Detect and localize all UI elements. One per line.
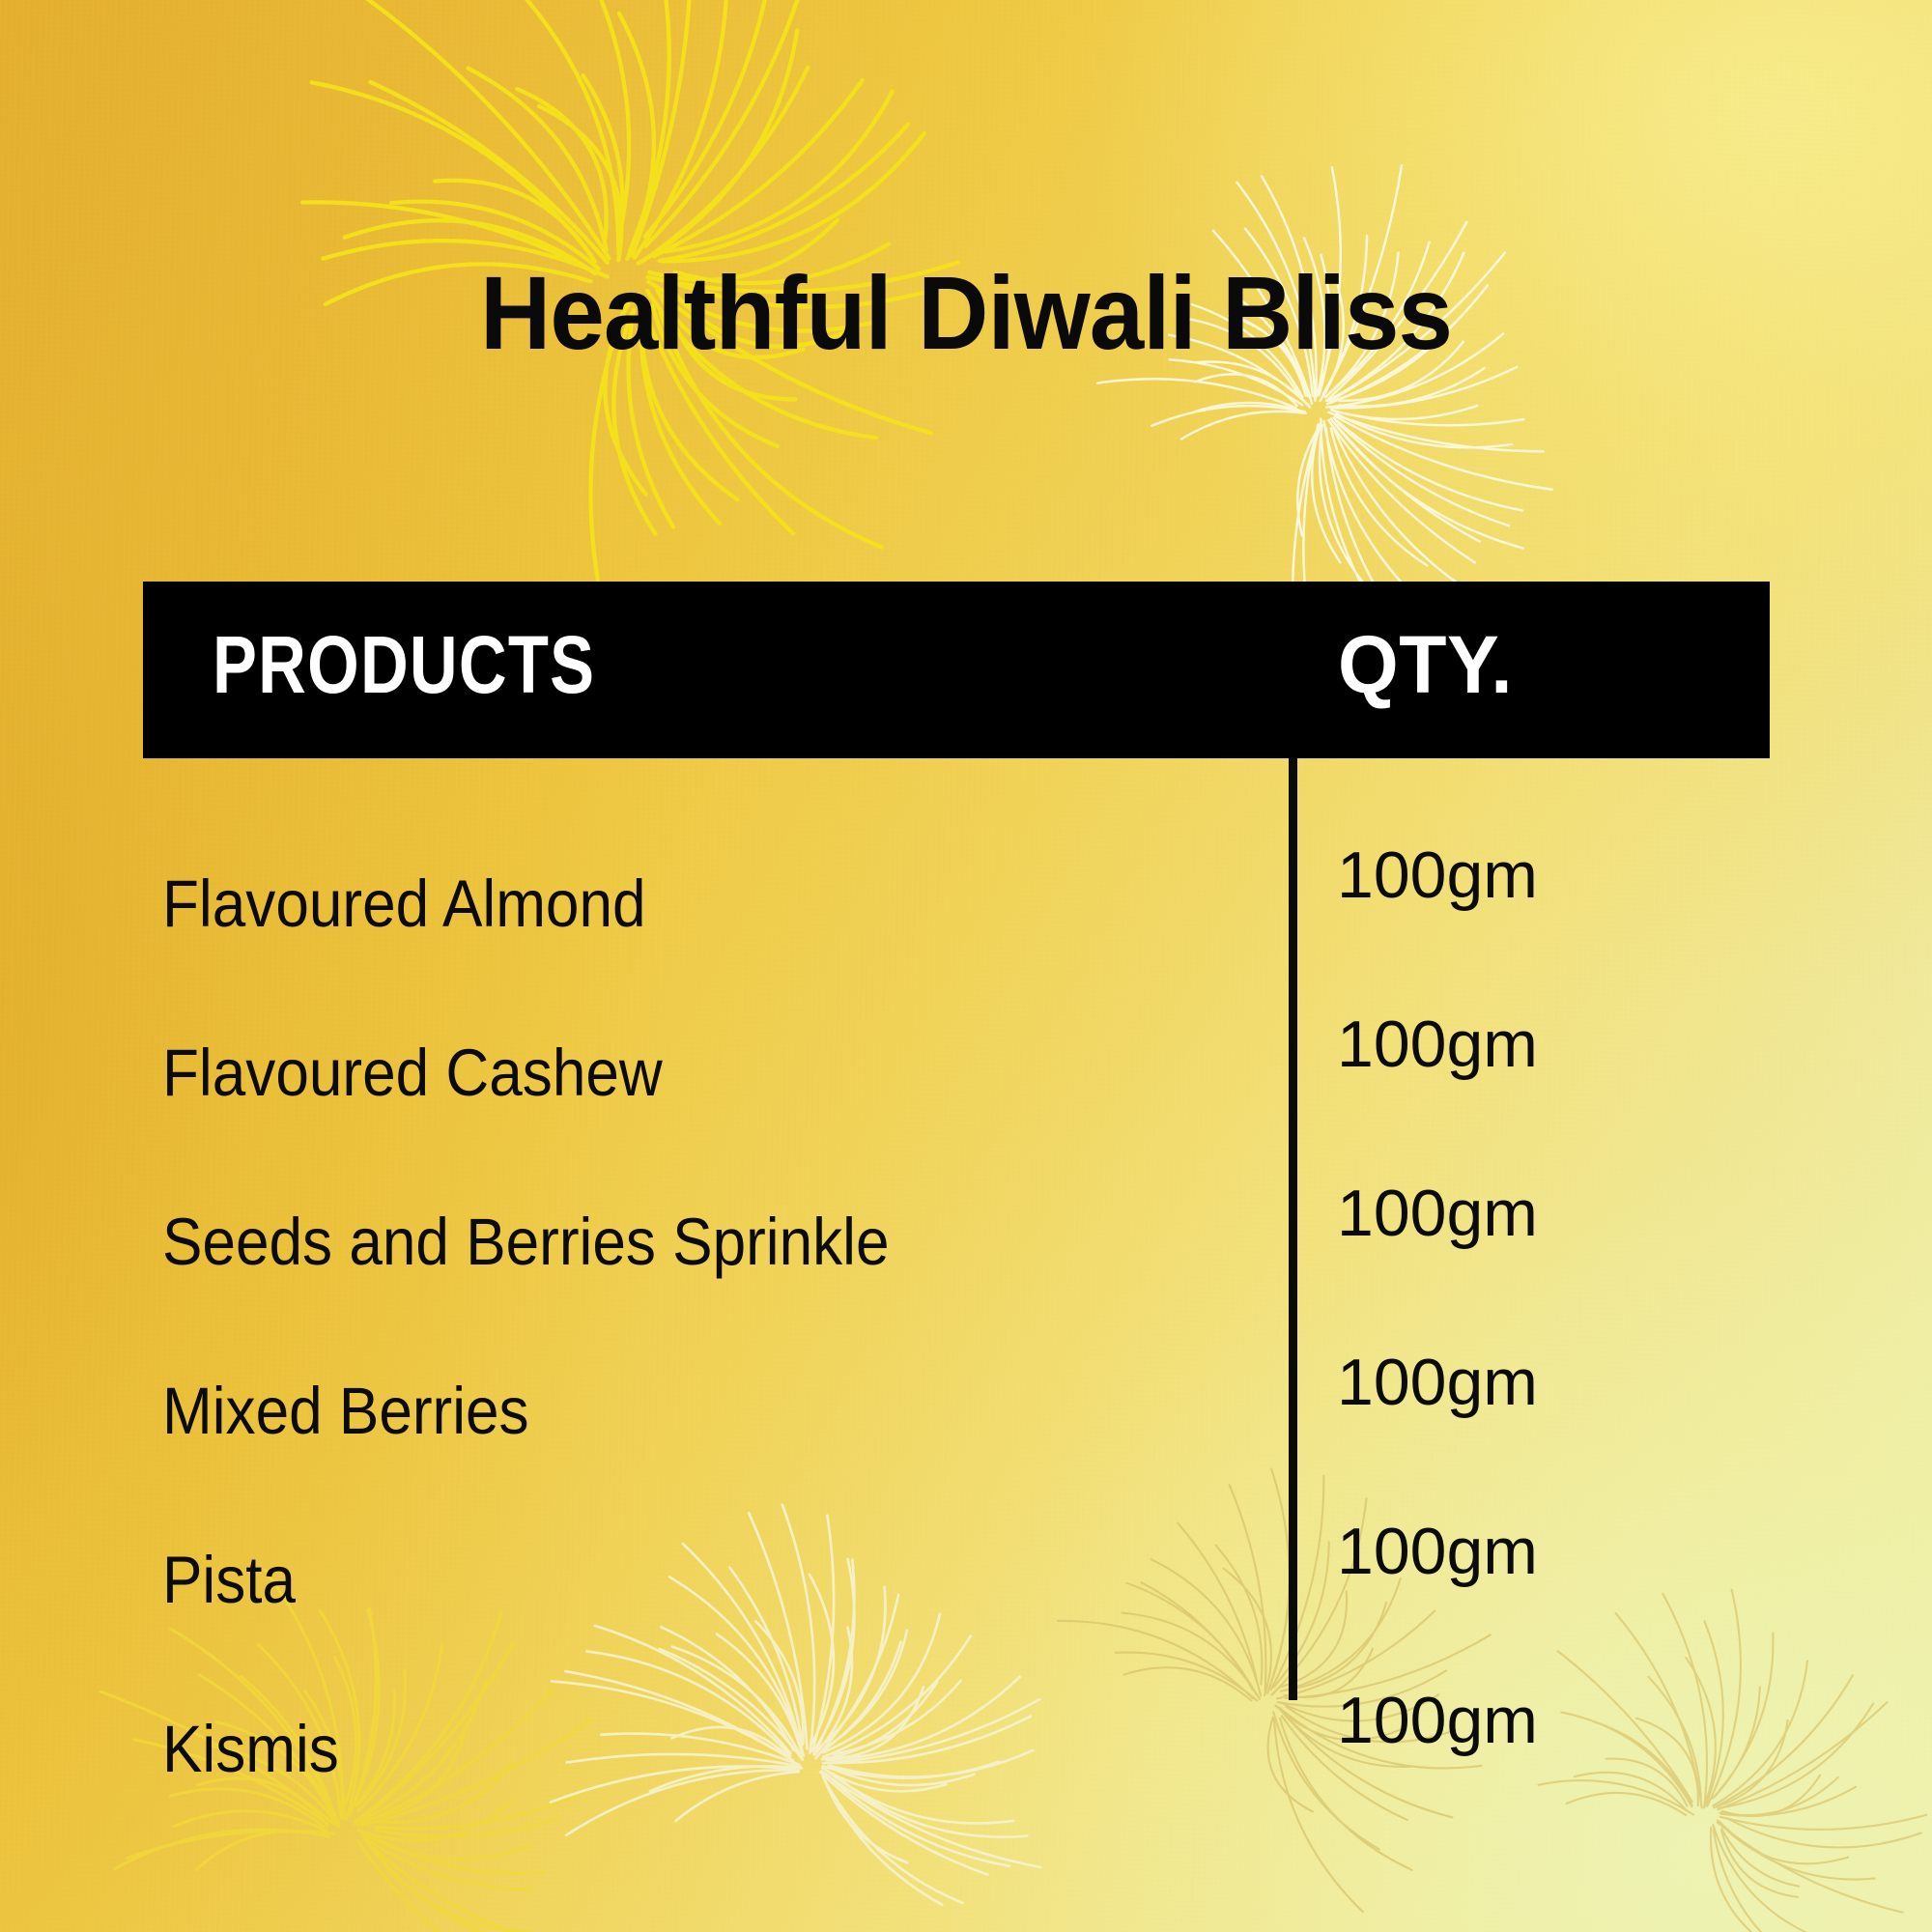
table-row-qty: 100gm — [1337, 1635, 1752, 1804]
table-row-qty: 100gm — [1337, 790, 1752, 959]
table-row: Seeds and Berries Sprinkle — [162, 1157, 1136, 1326]
table-row: Flavoured Cashew — [162, 988, 1136, 1157]
table-header-bar: PRODUCTS QTY. — [143, 582, 1770, 758]
table-row-qty: 100gm — [1337, 1297, 1752, 1466]
column-header-qty: QTY. — [1338, 624, 1513, 705]
product-name-column: Flavoured Almond Flavoured Cashew Seeds … — [162, 819, 1244, 1833]
table-row-qty: 100gm — [1337, 1466, 1752, 1635]
table-row: Kismis — [162, 1664, 1136, 1833]
table-row-qty: 100gm — [1337, 959, 1752, 1128]
column-divider — [1289, 758, 1297, 1700]
table-row: Pista — [162, 1495, 1136, 1664]
page-title: Healthful Diwali Bliss — [58, 261, 1874, 365]
table-row-qty: 100gm — [1337, 1128, 1752, 1297]
table-row: Flavoured Almond — [162, 819, 1136, 988]
column-header-products: PRODUCTS — [213, 624, 595, 705]
table-row: Mixed Berries — [162, 1326, 1136, 1495]
quantity-column: 100gm 100gm 100gm 100gm 100gm 100gm — [1337, 790, 1752, 1804]
diwali-product-list-poster: Healthful Diwali Bliss PRODUCTS QTY. Fla… — [0, 0, 1932, 1932]
